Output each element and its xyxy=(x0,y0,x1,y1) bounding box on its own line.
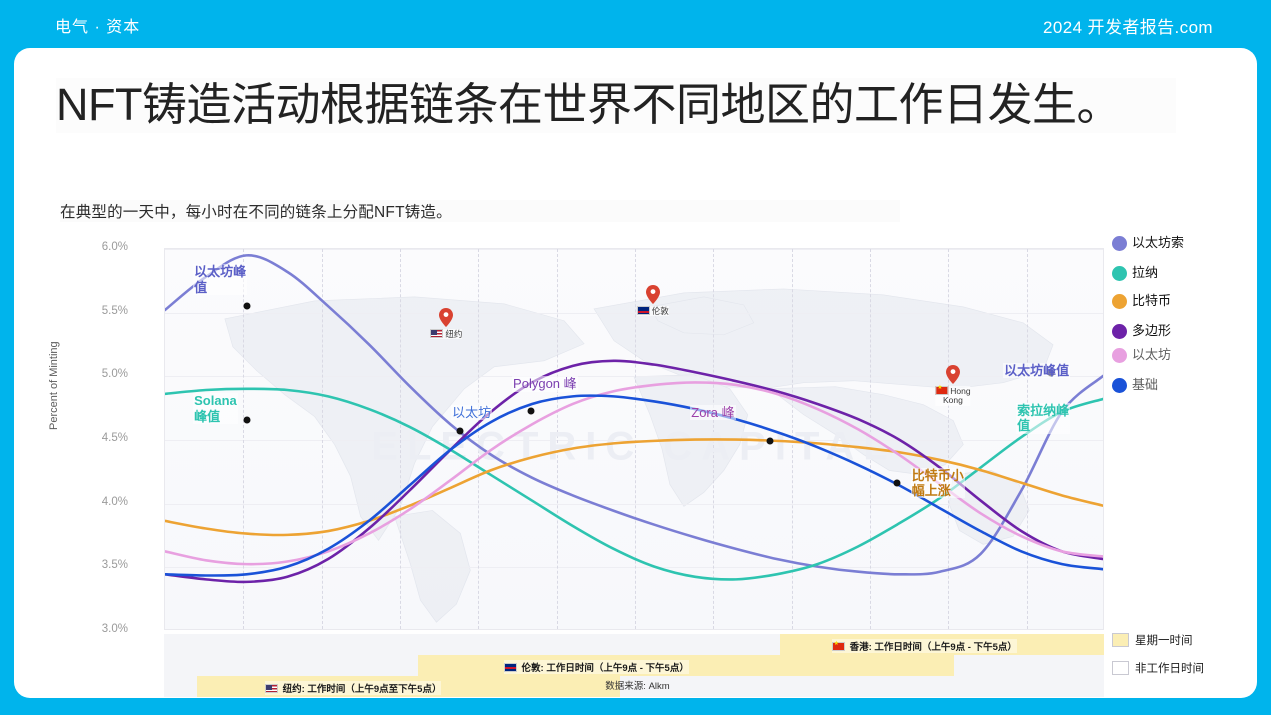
map-pin-icon xyxy=(946,365,960,384)
legend-label: 拉纳 xyxy=(1132,266,1158,281)
y-tick-label: 3.0% xyxy=(82,623,128,635)
y-tick-label: 4.5% xyxy=(82,432,128,444)
chart-annotation: Polygon 峰 xyxy=(512,376,578,391)
brand-bar: 电气 · 资本 2024 开发者报告.com xyxy=(0,0,1271,50)
flag-icon xyxy=(637,306,650,315)
peak-dot xyxy=(243,303,250,310)
legend-swatch xyxy=(1112,324,1127,339)
y-tick-label: 5.5% xyxy=(82,305,128,317)
y-tick-label: 6.0% xyxy=(82,241,128,253)
flag-icon xyxy=(935,386,948,395)
peak-dot xyxy=(527,407,534,414)
chart-container: Percent of Minting 6.0%5.5%5.0%4.5%4.0%3… xyxy=(60,230,1215,670)
map-pin-label: 纽约 xyxy=(430,329,462,339)
legend-item-4[interactable]: 以太坊 xyxy=(1112,348,1171,363)
y-axis-title: Percent of Minting xyxy=(48,341,60,430)
legend-swatch xyxy=(1112,348,1127,363)
legend-swatch xyxy=(1112,294,1127,309)
legend-item-2[interactable]: 比特币 xyxy=(1112,294,1171,309)
map-pin-icon xyxy=(439,308,453,327)
slide-background: 电气 · 资本 2024 开发者报告.com NFT铸造活动根据链条在世界不同地… xyxy=(0,0,1271,715)
band-label-ldn: 伦敦: 工作日时间（上午9点 - 下午5点） xyxy=(504,660,689,674)
y-tick-label: 3.5% xyxy=(82,559,128,571)
slide-card: NFT铸造活动根据链条在世界不同地区的工作日发生。 在典型的一天中，每小时在不同… xyxy=(14,48,1257,698)
source-note: 数据来源: Alkm xyxy=(60,678,1215,692)
band-key-swatch xyxy=(1112,661,1129,675)
series-lines xyxy=(165,249,1103,630)
legend-label: 比特币 xyxy=(1132,294,1171,309)
map-pin-label: 伦敦 xyxy=(637,306,669,316)
flag-icon xyxy=(504,663,517,672)
band-key-swatch xyxy=(1112,633,1129,647)
page-title: NFT铸造活动根据链条在世界不同地区的工作日发生。 xyxy=(56,78,1176,133)
legend-swatch xyxy=(1112,236,1127,251)
series-line xyxy=(165,255,1103,574)
band-key-0: 星期一时间 xyxy=(1112,632,1193,648)
legend-item-0[interactable]: 以太坊索 xyxy=(1112,236,1184,251)
chart-annotation: 以太坊峰值 xyxy=(1003,363,1070,378)
chart-annotation: 以太坊 xyxy=(451,405,492,420)
legend-item-3[interactable]: 多边形 xyxy=(1112,324,1171,339)
legend-label: 多边形 xyxy=(1132,324,1171,339)
chart-annotation: 比特币小 幅上涨 xyxy=(911,468,965,499)
plot-area: ELECTRIC CAPITAL 以太坊峰 值Solana 峰值以太坊Polyg… xyxy=(164,248,1104,630)
legend-swatch xyxy=(1112,266,1127,281)
flag-icon xyxy=(430,329,443,338)
y-tick-label: 4.0% xyxy=(82,496,128,508)
y-tick-label: 5.0% xyxy=(82,368,128,380)
map-pin-label: HongKong xyxy=(935,386,970,406)
legend-swatch xyxy=(1112,378,1127,393)
legend-item-5[interactable]: 基础 xyxy=(1112,378,1158,393)
chart-annotation: Solana 峰值 xyxy=(193,393,238,424)
legend-label: 以太坊 xyxy=(1132,348,1171,363)
page-subtitle: 在典型的一天中，每小时在不同的链条上分配NFT铸造。 xyxy=(60,200,900,222)
chart-annotation: 以太坊峰 值 xyxy=(193,264,247,295)
band-key-label: 非工作日时间 xyxy=(1135,660,1204,676)
band-label-hk: 香港: 工作日时间（上午9点 - 下午5点） xyxy=(832,639,1017,653)
band-key-label: 星期一时间 xyxy=(1135,632,1193,648)
chart-annotation: Zora 峰 xyxy=(690,405,735,420)
peak-dot xyxy=(243,417,250,424)
legend-label: 基础 xyxy=(1132,378,1158,393)
report-site-label: 2024 开发者报告.com xyxy=(1043,13,1213,38)
peak-dot xyxy=(457,428,464,435)
brand-name: 电气 · 资本 xyxy=(55,13,140,37)
legend-item-1[interactable]: 拉纳 xyxy=(1112,266,1158,281)
peak-dot xyxy=(767,437,774,444)
map-pin-icon xyxy=(646,285,660,304)
flag-icon xyxy=(832,642,845,651)
chart-annotation: 索拉纳峰 值 xyxy=(1016,403,1070,434)
band-key-1: 非工作日时间 xyxy=(1112,660,1204,676)
peak-dot xyxy=(893,479,900,486)
legend-label: 以太坊索 xyxy=(1132,236,1184,251)
